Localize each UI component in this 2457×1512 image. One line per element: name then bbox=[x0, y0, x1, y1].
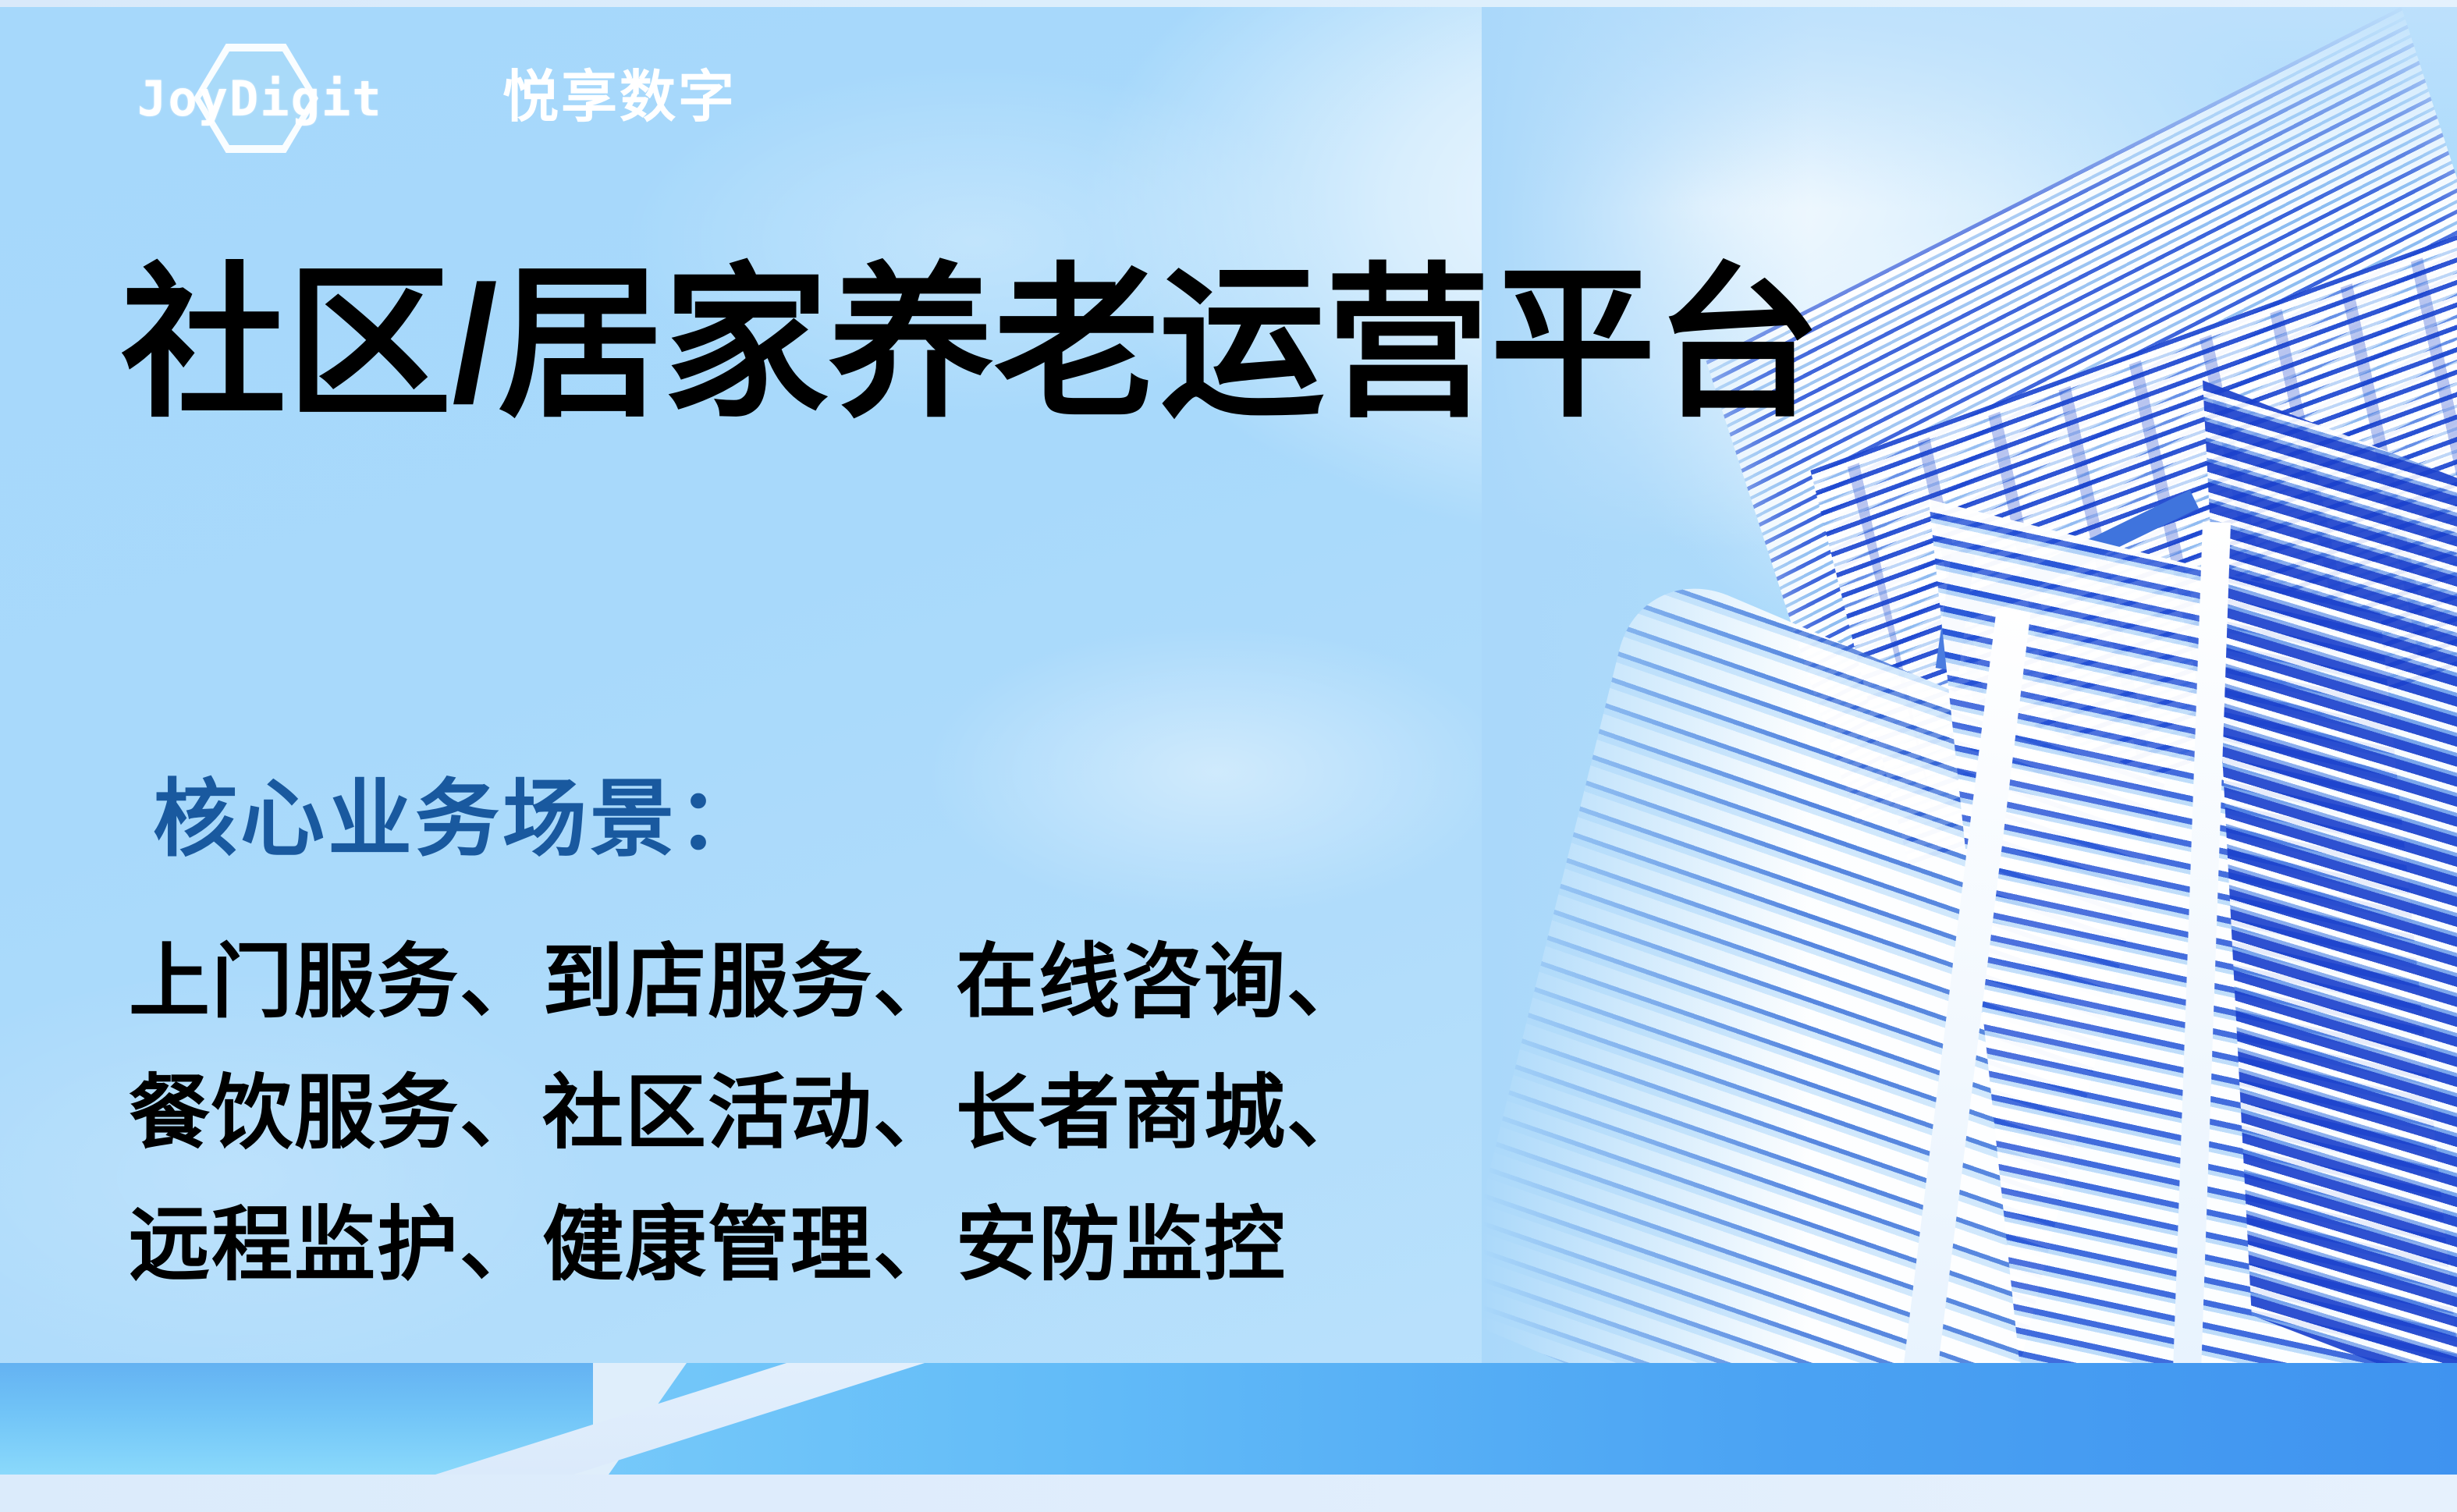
section-heading: 核心业务场景： bbox=[153, 768, 765, 870]
scenario-line: 餐饮服务、社区活动、长者商城、 bbox=[129, 1048, 1369, 1179]
scenario-line: 上门服务、到店服务、在线咨询、 bbox=[129, 917, 1369, 1048]
skyscraper-photo bbox=[1482, 7, 2457, 1363]
bottom-banner bbox=[0, 1363, 2457, 1475]
footer-strip bbox=[0, 1475, 2457, 1512]
brand-logo[interactable]: JoyDigit 悦享数字 bbox=[137, 64, 737, 131]
scenario-list: 上门服务、到店服务、在线咨询、 餐饮服务、社区活动、长者商城、 远程监护、健康管… bbox=[129, 917, 1369, 1311]
page-title: 社区/居家养老运营平台 bbox=[121, 248, 1821, 440]
top-hairline-strip bbox=[0, 0, 2457, 7]
building-left-fade bbox=[1482, 7, 1809, 1363]
slide-root: JoyDigit 悦享数字 社区/居家养老运营平台 核心业务场景： 上门服务、到… bbox=[0, 0, 2457, 1512]
logo-wordmark: JoyDigit bbox=[137, 64, 473, 131]
logo-text-cn: 悦享数字 bbox=[502, 69, 737, 126]
scenario-line: 远程监护、健康管理、安防监控 bbox=[129, 1180, 1369, 1311]
logo-text-en: JoyDigit bbox=[137, 70, 383, 127]
